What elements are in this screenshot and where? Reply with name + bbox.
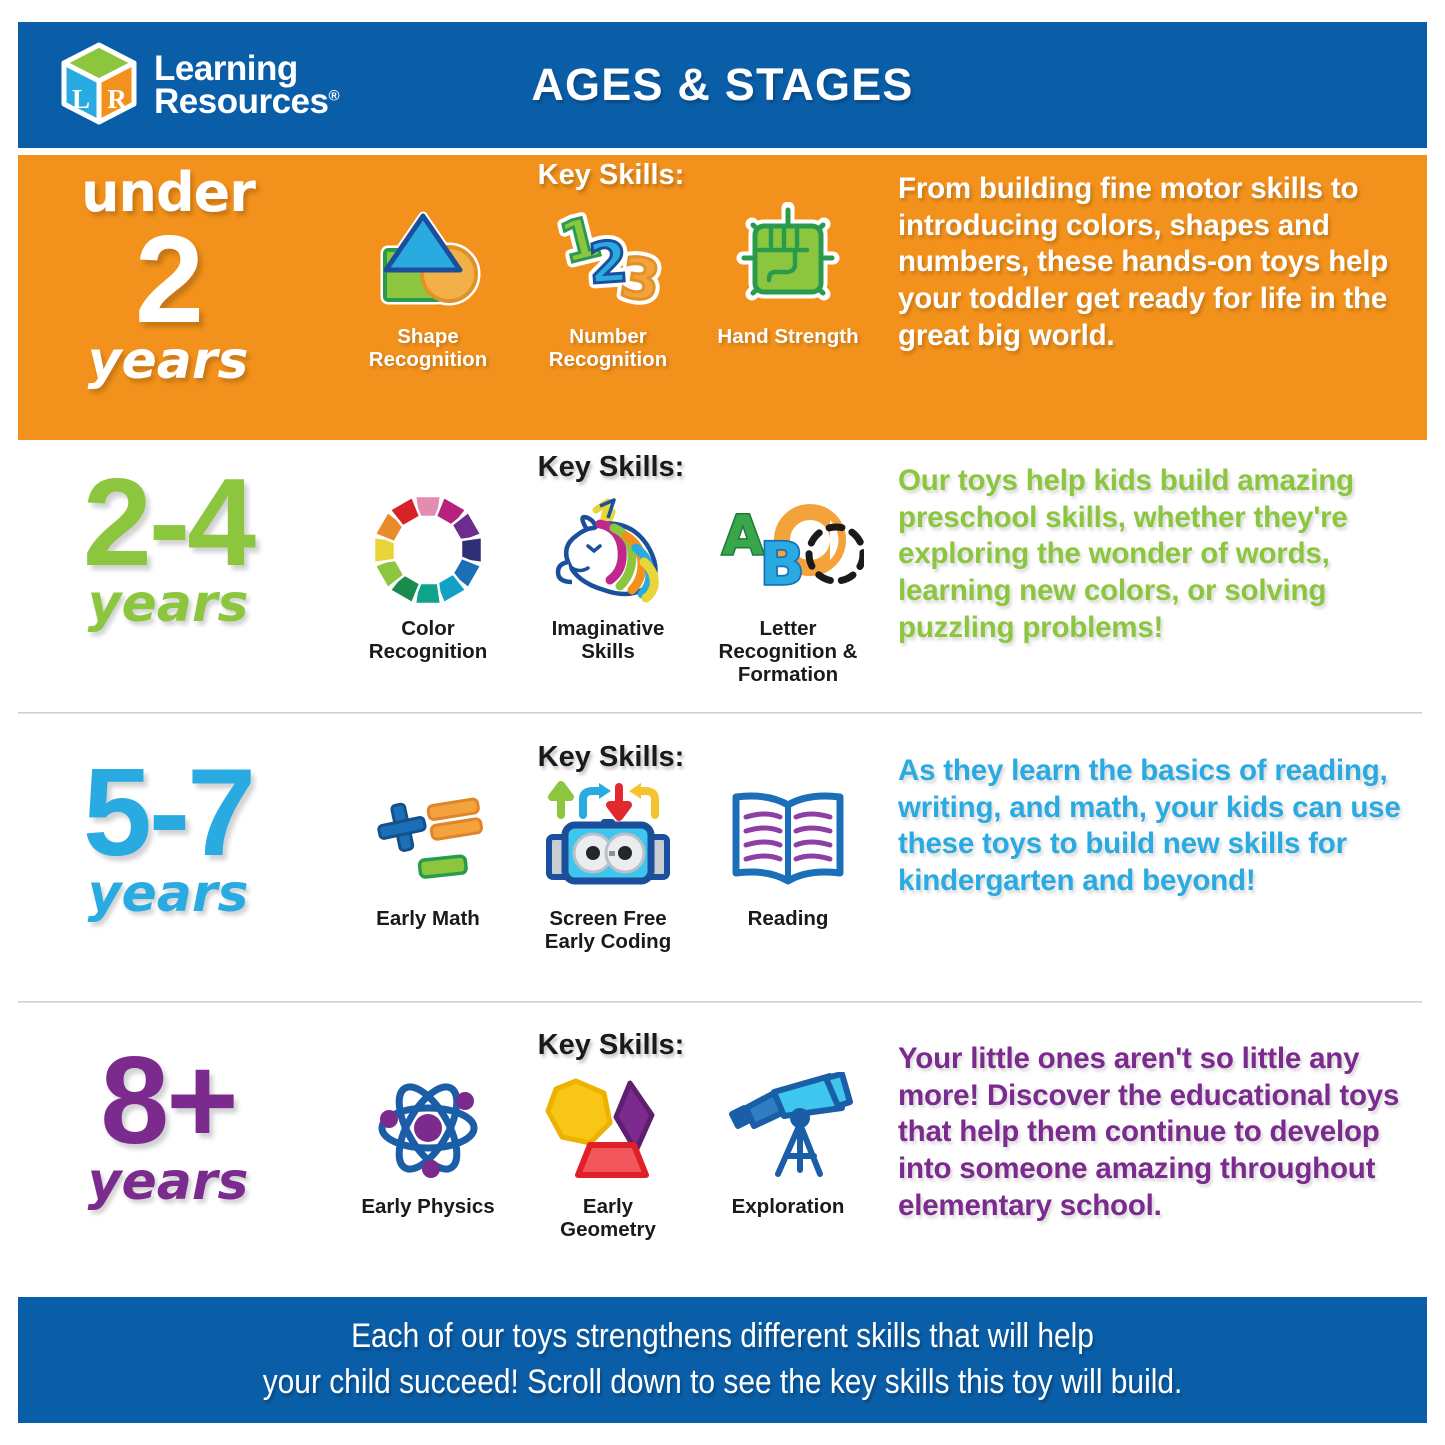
age-label-5-7: 5-7 years	[18, 737, 318, 918]
age-label-under-2: under 2 years	[18, 155, 318, 384]
description-under-2: From building fine motor skills to intro…	[898, 155, 1427, 355]
svg-text:B: B	[760, 530, 804, 598]
telescope-icon	[722, 1066, 854, 1190]
description-5-7: As they learn the basics of reading, wri…	[898, 737, 1427, 900]
skills-list: Early Physics EarlyGeometry	[318, 1066, 898, 1242]
svg-text:3: 3	[616, 245, 664, 312]
hand-strength-icon	[729, 196, 847, 320]
skills-list: ColorRecognition	[318, 488, 898, 687]
age-years: years	[88, 871, 249, 918]
abc-letters-icon: A B	[712, 488, 864, 612]
key-skills-heading: Key Skills:	[324, 1029, 898, 1062]
description-2-4: Our toys help kids build amazing prescho…	[898, 447, 1427, 647]
skill-label: Hand Strength	[717, 326, 858, 349]
atom-icon	[369, 1066, 487, 1190]
skills-group-8-plus: Key Skills:	[318, 1025, 898, 1242]
age-label-8-plus: 8+ years	[18, 1025, 318, 1206]
page-title: AGES & STAGES	[18, 59, 1427, 111]
color-wheel-icon	[369, 488, 487, 612]
skill-early-geometry: EarlyGeometry	[518, 1066, 698, 1242]
skill-label: Reading	[748, 908, 829, 931]
age-row-8-plus: 8+ years Key Skills:	[18, 1025, 1427, 1280]
infographic-page: L R Learning Resources® AGES & STAGES un…	[0, 0, 1445, 1445]
description-text: Our toys help kids build amazing prescho…	[898, 463, 1417, 647]
age-years: years	[88, 1159, 249, 1206]
header-banner: L R Learning Resources® AGES & STAGES	[18, 22, 1427, 148]
row-divider	[18, 712, 1422, 714]
skills-list: ShapeRecognition 1 2 3 1 2	[318, 196, 898, 372]
skills-list: Early Math	[318, 778, 898, 954]
skill-number-recognition: 1 2 3 1 2 3 NumberRecognition	[518, 196, 698, 372]
footer-banner: Each of our toys strengthens different s…	[18, 1297, 1427, 1423]
skill-letter-recognition: A B LetterRecognition &Formation	[698, 488, 878, 687]
skill-label: LetterRecognition &Formation	[719, 618, 858, 687]
skill-label: Screen FreeEarly Coding	[545, 908, 671, 954]
skill-screen-free-early-coding: Screen FreeEarly Coding	[518, 778, 698, 954]
age-number: 8+	[100, 1039, 235, 1163]
description-text: As they learn the basics of reading, wri…	[898, 753, 1417, 900]
key-skills-heading: Key Skills:	[324, 741, 898, 774]
skill-label: Exploration	[732, 1196, 845, 1219]
age-number: 2	[135, 218, 201, 342]
skill-color-recognition: ColorRecognition	[338, 488, 518, 687]
footer-message: Each of our toys strengthens different s…	[263, 1314, 1183, 1405]
open-book-icon	[724, 778, 852, 902]
geometry-shapes-icon	[542, 1066, 674, 1190]
key-skills-heading: Key Skills:	[324, 451, 898, 484]
description-8-plus: Your little ones aren't so little any mo…	[898, 1025, 1427, 1225]
early-math-icon	[368, 778, 488, 902]
footer-line1: Each of our toys strengthens different s…	[351, 1317, 1094, 1355]
number-recognition-icon: 1 2 3 1 2 3	[549, 196, 667, 320]
skill-label: EarlyGeometry	[560, 1196, 656, 1242]
coding-robot-icon	[543, 778, 673, 902]
skill-label: Early Math	[376, 908, 480, 931]
description-text: Your little ones aren't so little any mo…	[898, 1041, 1417, 1225]
key-skills-heading: Key Skills:	[324, 159, 898, 192]
age-number: 5-7	[83, 751, 253, 875]
row-divider	[18, 1001, 1422, 1003]
age-row-2-4: 2-4 years Key Skills:	[18, 447, 1427, 697]
age-row-under-2: under 2 years Key Skills:	[18, 155, 1427, 440]
description-text: From building fine motor skills to intro…	[898, 171, 1417, 355]
skill-early-physics: Early Physics	[338, 1066, 518, 1242]
age-label-2-4: 2-4 years	[18, 447, 318, 628]
skill-reading: Reading	[698, 778, 878, 954]
age-years: years	[88, 581, 249, 628]
skills-group-5-7: Key Skills:	[318, 737, 898, 954]
footer-line2: your child succeed! Scroll down to see t…	[263, 1363, 1183, 1401]
skill-early-math: Early Math	[338, 778, 518, 954]
unicorn-icon	[538, 488, 678, 612]
skill-imaginative-skills: ImaginativeSkills	[518, 488, 698, 687]
svg-text:A: A	[722, 504, 764, 567]
skills-group-under-2: Key Skills:	[318, 155, 898, 372]
skill-hand-strength: Hand Strength	[698, 196, 878, 372]
age-row-5-7: 5-7 years Key Skills:	[18, 737, 1427, 987]
skill-exploration: Exploration	[698, 1066, 878, 1242]
skill-label: ImaginativeSkills	[552, 618, 665, 664]
skill-label: ShapeRecognition	[369, 326, 487, 372]
skill-label: NumberRecognition	[549, 326, 667, 372]
age-years: years	[88, 338, 249, 385]
skill-shape-recognition: ShapeRecognition	[338, 196, 518, 372]
skill-label: ColorRecognition	[369, 618, 487, 664]
age-number: 2-4	[83, 461, 253, 585]
skills-group-2-4: Key Skills:	[318, 447, 898, 687]
shape-recognition-icon	[369, 196, 487, 320]
skill-label: Early Physics	[361, 1196, 494, 1219]
